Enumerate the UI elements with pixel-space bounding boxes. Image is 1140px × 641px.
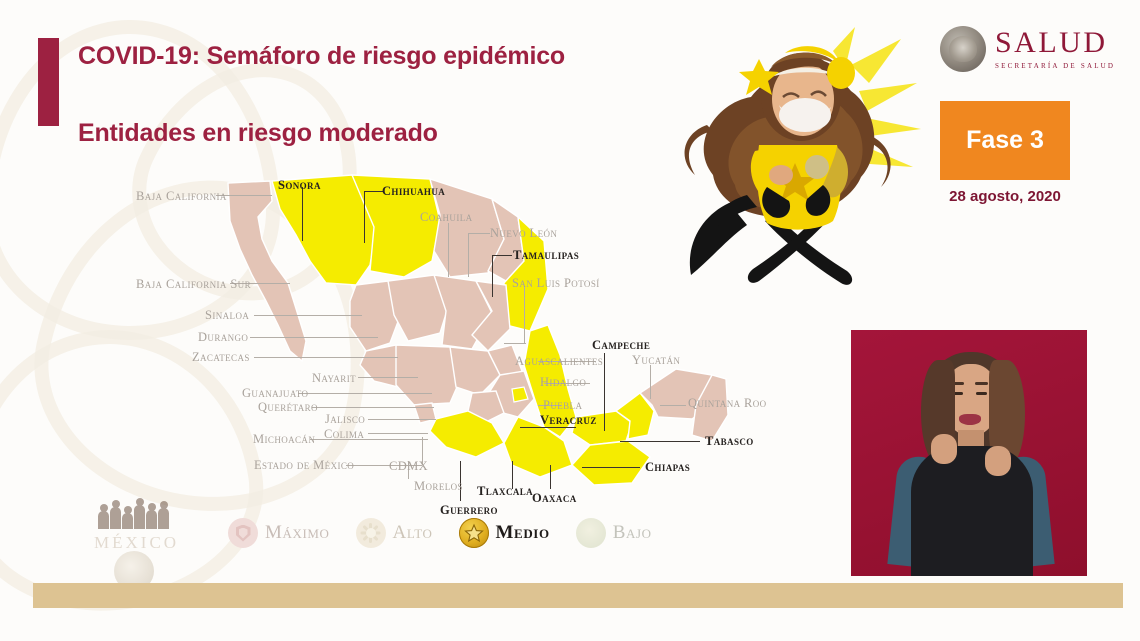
legend-label-bajo: Bajo xyxy=(613,522,652,544)
mexico-risk-map: Baja CaliforniaSonoraChihuahuaCoahuilaNu… xyxy=(120,165,820,515)
map-label-durango: Durango xyxy=(198,331,248,344)
interpreter-hand-right xyxy=(985,446,1011,476)
shield-icon xyxy=(228,518,258,548)
map-label-estado-de-méxico: Estado de México xyxy=(254,459,354,472)
page-title: COVID-19: Semáforo de riesgo epidémico xyxy=(78,42,565,71)
phase-label: Fase 3 xyxy=(966,126,1044,155)
map-label-yucatán: Yucatán xyxy=(632,354,680,367)
interpreter-torso xyxy=(911,446,1033,576)
map-label-jalisco: Jalisco xyxy=(325,413,365,426)
interpreter-hand-left xyxy=(931,434,957,464)
map-label-chihuahua: Chihuahua xyxy=(382,185,445,198)
map-label-baja-california-sur: Baja California Sur xyxy=(136,278,251,291)
map-label-nuevo-león: Nuevo León xyxy=(490,227,557,240)
legend-label-medio: Medio xyxy=(496,522,550,544)
legend-item-medio[interactable]: Medio xyxy=(459,518,550,548)
map-label-tamaulipas: Tamaulipas xyxy=(513,249,579,262)
map-label-morelos: Morelos xyxy=(414,480,463,493)
legend-label-maximo: Máximo xyxy=(265,522,330,544)
legend-label-alto: Alto xyxy=(393,522,433,544)
map-label-hidalgo: Hidalgo xyxy=(540,376,586,389)
map-label-nayarit: Nayarit xyxy=(312,372,356,385)
map-label-colima: Colima xyxy=(324,428,364,441)
gobierno-de-mexico-logo: MÉXICO xyxy=(88,497,184,589)
legend-item-alto[interactable]: Alto xyxy=(356,518,433,548)
map-label-cdmx: CDMX xyxy=(389,460,428,473)
map-label-sonora: Sonora xyxy=(278,179,321,192)
phase-date: 28 agosto, 2020 xyxy=(940,188,1070,205)
circle-icon xyxy=(576,518,606,548)
map-label-quintana-roo: Quintana Roo xyxy=(688,397,767,410)
map-label-aguascalientes: Aguascalientes xyxy=(515,355,603,368)
map-label-tlaxcala: Tlaxcala xyxy=(477,485,533,498)
map-label-san-luis-potosí: San Luis Potosí xyxy=(512,277,600,290)
map-label-guanajuato: Guanajuato xyxy=(242,387,308,400)
legend-item-maximo[interactable]: Máximo xyxy=(228,518,330,548)
map-label-michoacán: Michoacán xyxy=(253,433,315,446)
star-icon xyxy=(459,518,489,548)
gov-logo-word: MÉXICO xyxy=(94,533,178,553)
sign-language-interpreter-panel[interactable] xyxy=(851,330,1087,576)
phase-badge: Fase 3 xyxy=(940,101,1070,180)
interpreter-eye-right xyxy=(976,392,987,395)
interpreter-brow-right xyxy=(975,382,988,385)
presentation-slide: COVID-19: Semáforo de riesgo epidémico E… xyxy=(0,0,1140,641)
map-label-guerrero: Guerrero xyxy=(440,504,498,517)
map-label-chiapas: Chiapas xyxy=(645,461,690,474)
interpreter-mouth xyxy=(959,414,981,425)
map-label-querétaro: Querétaro xyxy=(258,401,318,414)
map-label-campeche: Campeche xyxy=(592,339,650,352)
risk-legend: Máximo Alto Medio xyxy=(228,518,652,548)
map-label-puebla: Puebla xyxy=(543,399,582,412)
gov-figures-icon xyxy=(96,499,174,529)
map-label-sinaloa: Sinaloa xyxy=(205,309,249,322)
sun-icon xyxy=(356,518,386,548)
page-subtitle: Entidades en riesgo moderado xyxy=(78,119,438,148)
title-accent-bar xyxy=(38,38,59,126)
brand-tagline: SECRETARÍA DE SALUD xyxy=(995,62,1115,70)
mexican-eagle-seal-icon xyxy=(940,26,986,72)
map-label-baja-california: Baja California xyxy=(136,190,227,203)
legend-item-bajo[interactable]: Bajo xyxy=(576,518,652,548)
bottom-accent-strip xyxy=(33,583,1123,608)
salud-logo: SALUD SECRETARÍA DE SALUD xyxy=(940,26,1115,72)
map-label-coahuila: Coahuila xyxy=(420,211,473,224)
brand-name: SALUD xyxy=(995,28,1115,58)
map-label-veracruz: Veracruz xyxy=(540,414,597,427)
map-label-tabasco: Tabasco xyxy=(705,435,754,448)
map-label-oaxaca: Oaxaca xyxy=(532,492,577,505)
map-label-zacatecas: Zacatecas xyxy=(192,351,250,364)
